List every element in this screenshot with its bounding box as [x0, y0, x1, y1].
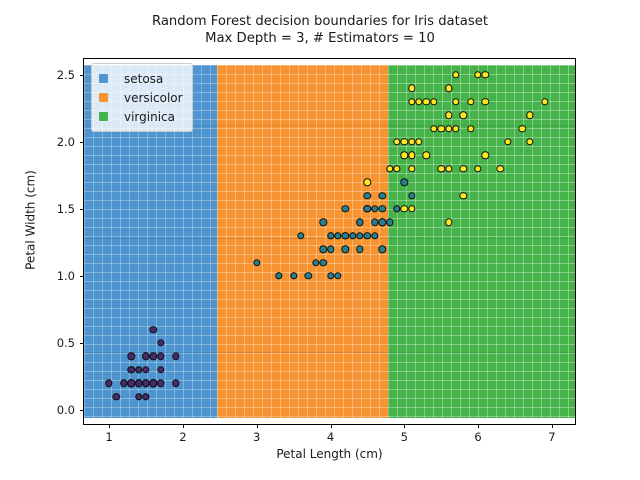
- y-tick-label: 0.0: [57, 403, 75, 417]
- y-tick-label: 1.5: [57, 202, 75, 216]
- x-tick-label: 5: [401, 430, 408, 444]
- legend-label-versicolor: versicolor: [124, 91, 183, 105]
- legend-label-virginica: virginica: [124, 110, 175, 124]
- x-tick: [552, 424, 553, 428]
- y-tick: [80, 209, 84, 210]
- decision-region-virginica: [388, 65, 575, 418]
- decision-region-versicolor: [217, 65, 388, 418]
- x-tick: [257, 424, 258, 428]
- legend-item-versicolor[interactable]: versicolor: [99, 88, 183, 107]
- x-tick-label: 1: [105, 430, 112, 444]
- plot-axes: 12345670.00.51.01.52.02.5 setosa versico…: [83, 58, 576, 425]
- y-tick-label: 0.5: [57, 336, 75, 350]
- chart-legend[interactable]: setosa versicolor virginica: [91, 63, 193, 132]
- legend-swatch-virginica: [99, 112, 108, 121]
- y-tick: [80, 410, 84, 411]
- x-tick-label: 3: [253, 430, 260, 444]
- x-axis-label: Petal Length (cm): [83, 447, 576, 461]
- y-tick-label: 2.5: [57, 68, 75, 82]
- chart-title: Random Forest decision boundaries for Ir…: [0, 14, 640, 47]
- x-tick-label: 7: [548, 430, 555, 444]
- x-tick: [109, 424, 110, 428]
- x-tick: [404, 424, 405, 428]
- y-tick: [80, 142, 84, 143]
- legend-swatch-versicolor: [99, 93, 108, 102]
- legend-label-setosa: setosa: [124, 72, 163, 86]
- x-tick: [331, 424, 332, 428]
- x-tick-label: 6: [474, 430, 481, 444]
- x-tick-label: 4: [327, 430, 334, 444]
- y-tick: [80, 343, 84, 344]
- legend-item-setosa[interactable]: setosa: [99, 69, 183, 88]
- y-tick: [80, 276, 84, 277]
- legend-swatch-setosa: [99, 74, 108, 83]
- x-tick: [183, 424, 184, 428]
- chart-figure: Random Forest decision boundaries for Ir…: [0, 0, 640, 480]
- y-tick-label: 2.0: [57, 135, 75, 149]
- legend-item-virginica[interactable]: virginica: [99, 107, 183, 126]
- x-tick-label: 2: [179, 430, 186, 444]
- y-tick-label: 1.0: [57, 269, 75, 283]
- x-tick: [478, 424, 479, 428]
- y-axis-label: Petal Width (cm): [24, 37, 38, 404]
- y-tick: [80, 75, 84, 76]
